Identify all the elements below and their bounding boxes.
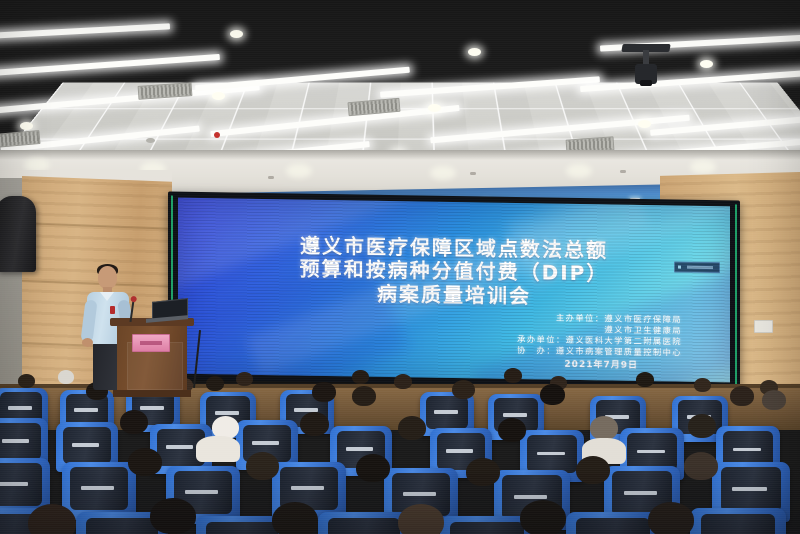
screen-vignette — [178, 198, 730, 383]
presenter-badge — [110, 306, 115, 314]
wall-ceiling-shadow — [0, 150, 800, 160]
podium-sign — [132, 334, 170, 352]
foreground-depth-blur — [0, 462, 800, 534]
wall-speaker — [0, 196, 36, 272]
screen-edge-accent-right — [735, 204, 737, 384]
podium — [115, 318, 189, 396]
led-screen[interactable]: 遵义市医疗保障区域点数法总额 预算和按病种分值付费（DIP） 病案质量培训会 主… — [168, 192, 740, 389]
screen-surface: 遵义市医疗保障区域点数法总额 预算和按病种分值付费（DIP） 病案质量培训会 主… — [178, 198, 730, 383]
smoke-detector-icon — [146, 138, 155, 143]
presenter-head — [98, 266, 117, 289]
laptop — [146, 300, 186, 322]
presenter-hand — [82, 338, 93, 347]
photo-scene: 遵义市医疗保障区域点数法总额 预算和按病种分值付费（DIP） 病案质量培训会 主… — [0, 0, 800, 534]
wall-plate — [754, 320, 773, 333]
ceiling-projector — [640, 48, 652, 82]
